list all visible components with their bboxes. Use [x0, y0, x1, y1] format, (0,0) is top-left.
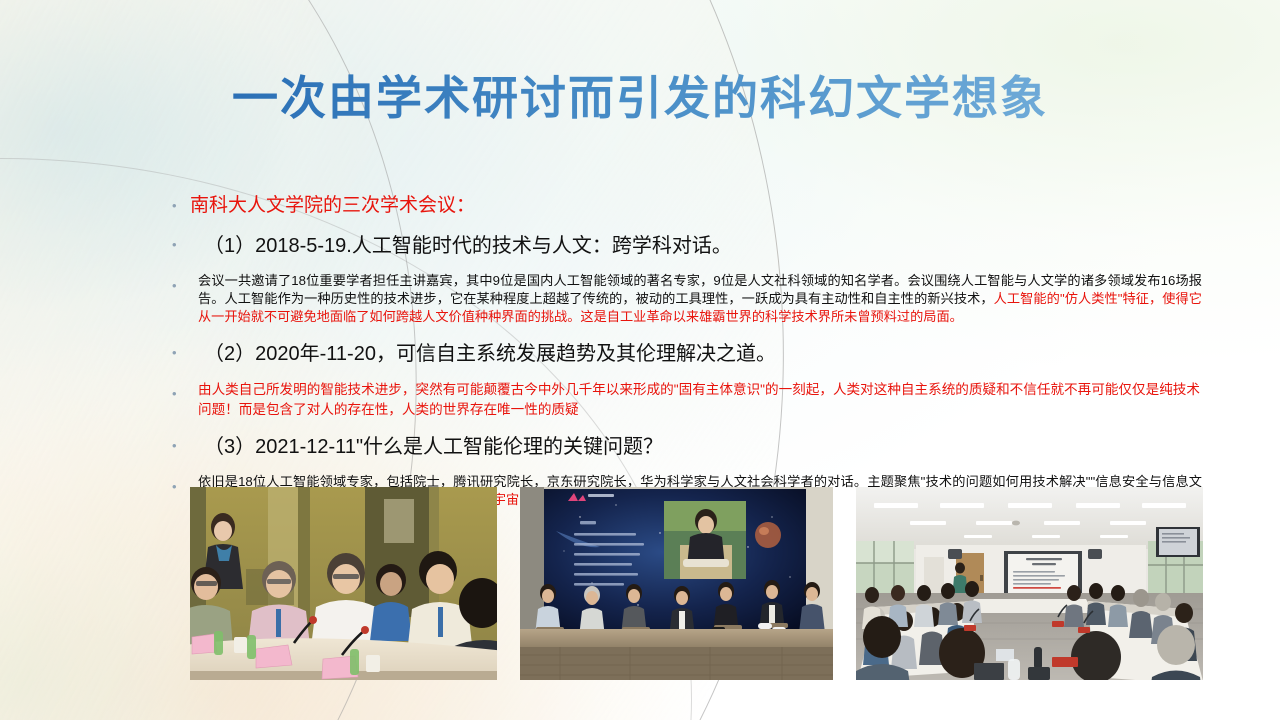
bullet-marker-icon: • [172, 432, 190, 456]
paragraph-2: 由人类自己所发明的智能技术进步，突然有可能颠覆古今中外几千年以来形成的"固有主体… [190, 380, 1202, 419]
seminar-room-photo [856, 487, 1203, 680]
bullet-marker-icon: • [172, 192, 190, 216]
item-2-text: （2）2020年-11-20，可信自主系统发展趋势及其伦理解决之道。 [190, 339, 1202, 369]
item-3-text: （3）2021-12-11"什么是人工智能伦理的关键问题？ [190, 432, 1202, 462]
photo-strip [190, 487, 1226, 680]
roundtable-panelists-image [190, 487, 497, 680]
spacer [172, 263, 1202, 272]
bullet-marker-icon: • [172, 231, 190, 255]
roundtable-panelists-photo [190, 487, 497, 680]
seminar-room-image [856, 487, 1203, 680]
bullet-line-item-3: • （3）2021-12-11"什么是人工智能伦理的关键问题？ [172, 432, 1202, 462]
slide-title: 一次由学术研讨而引发的科幻文学想象 [0, 72, 1280, 125]
item-1-text: （1）2018-5-19.人工智能时代的技术与人文：跨学科对话。 [190, 231, 1202, 261]
bullet-line-paragraph-1: • 会议一共邀请了18位重要学者担任主讲嘉宾，其中9位是国内人工智能领域的著名专… [172, 272, 1202, 327]
bullet-line-paragraph-2: • 由人类自己所发明的智能技术进步，突然有可能颠覆古今中外几千年以来形成的"固有… [172, 380, 1202, 419]
bullet-line-item-2: • （2）2020年-11-20，可信自主系统发展趋势及其伦理解决之道。 [172, 339, 1202, 369]
spacer [172, 222, 1202, 231]
stage-forum-image [520, 487, 833, 680]
bullet-line-item-1: • （1）2018-5-19.人工智能时代的技术与人文：跨学科对话。 [172, 231, 1202, 261]
spacer [172, 421, 1202, 432]
slide-body: • 南科大人文学院的三次学术会议： • （1）2018-5-19.人工智能时代的… [172, 192, 1202, 511]
presentation-slide: 一次由学术研讨而引发的科幻文学想象 • 南科大人文学院的三次学术会议： • （1… [0, 0, 1280, 720]
bullet-line-heading: • 南科大人文学院的三次学术会议： [172, 192, 1202, 220]
bullet-marker-icon: • [172, 272, 190, 296]
spacer [172, 464, 1202, 473]
heading-text: 南科大人文学院的三次学术会议： [190, 192, 1202, 220]
spacer [172, 371, 1202, 380]
bullet-marker-icon: • [172, 380, 190, 404]
stage-forum-photo [520, 487, 833, 680]
bullet-marker-icon: • [172, 473, 190, 497]
paragraph-1: 会议一共邀请了18位重要学者担任主讲嘉宾，其中9位是国内人工智能领域的著名专家，… [190, 272, 1202, 327]
bullet-marker-icon: • [172, 339, 190, 363]
spacer [172, 328, 1202, 339]
